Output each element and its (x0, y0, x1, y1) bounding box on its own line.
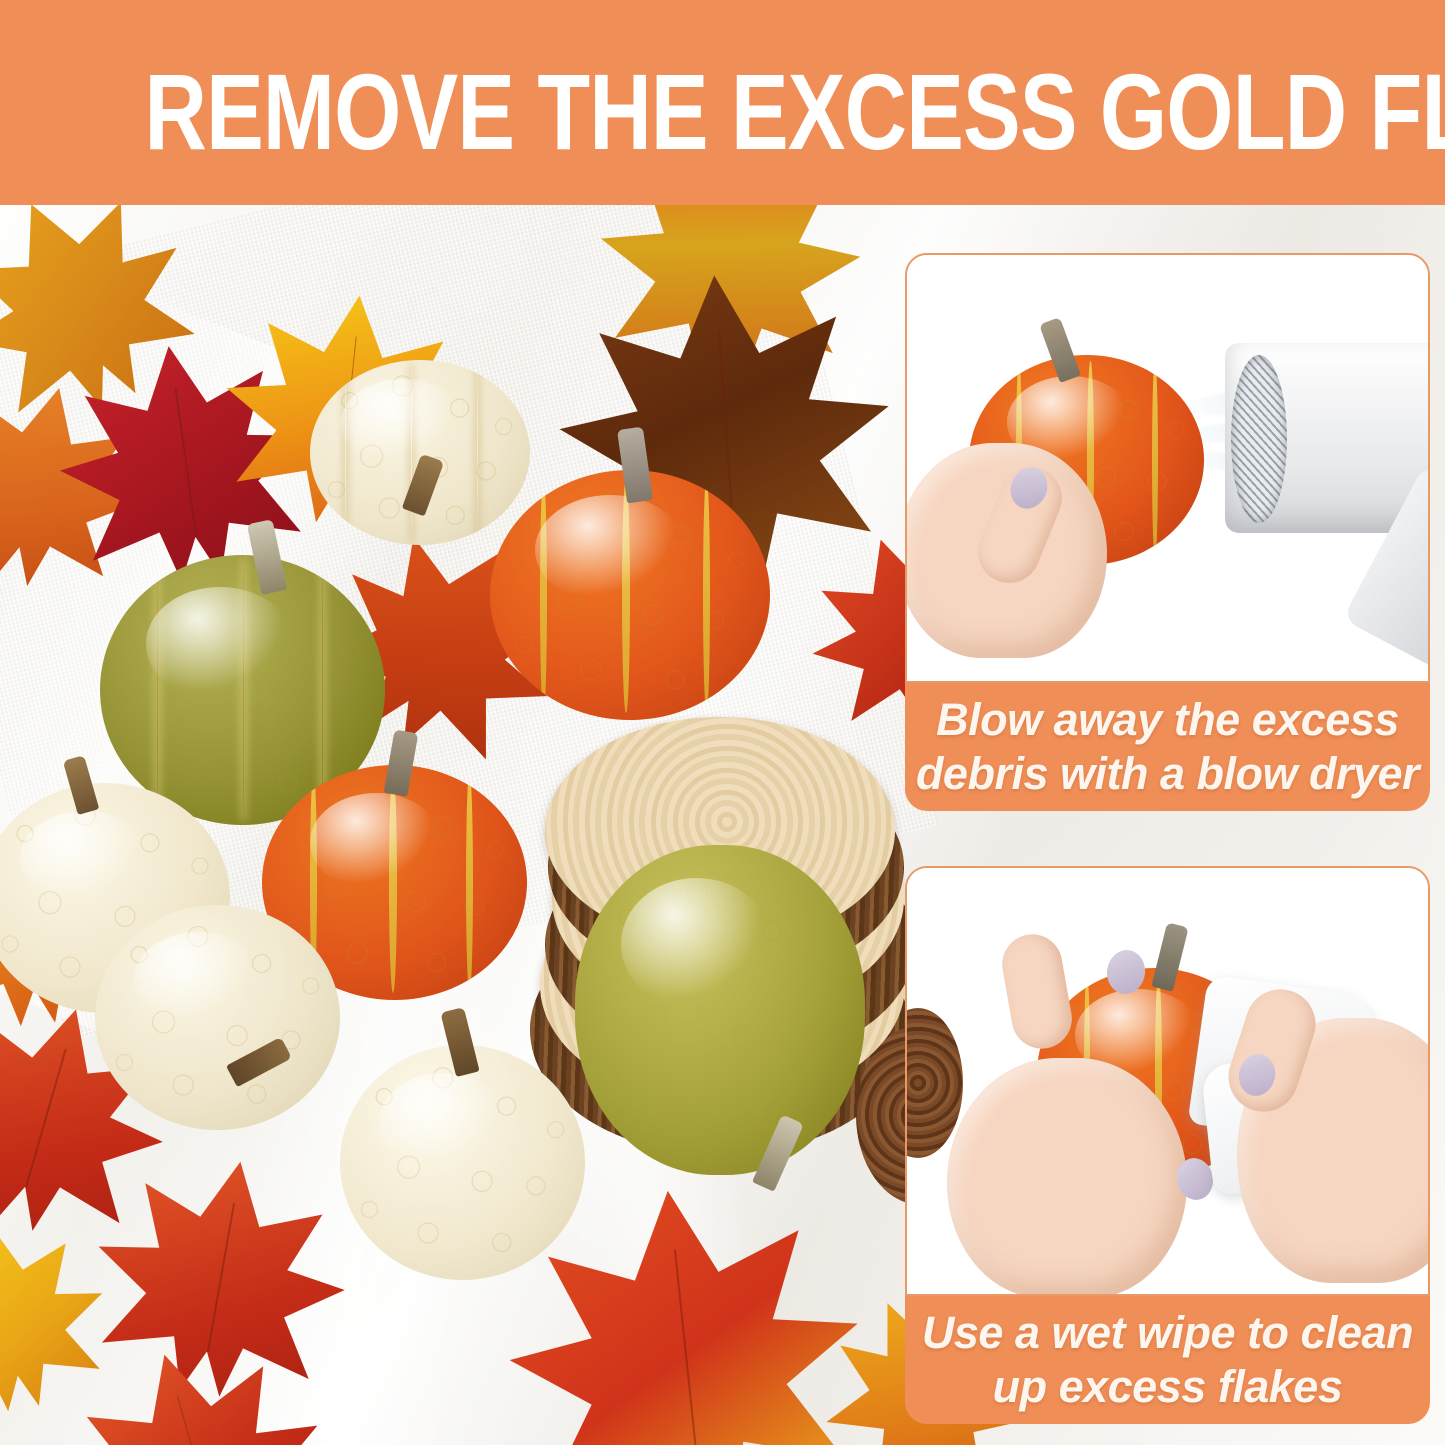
pumpkin-highlight (341, 379, 464, 468)
blow-dryer-grill (1231, 355, 1287, 523)
pumpkin-cream-lower-left (95, 905, 340, 1130)
pumpkin-cream-bottom (340, 1045, 585, 1280)
pumpkin-highlight (146, 587, 294, 700)
pumpkin-highlight (621, 878, 772, 1010)
caption-wet-wipe: Use a wet wipe to clean up excess flakes (905, 1296, 1430, 1424)
caption-blow-dryer: Blow away the excess debris with a blow … (905, 683, 1430, 811)
step-photo-blow-dryer (905, 253, 1430, 683)
blow-dryer-scene (907, 255, 1428, 681)
caption-text: Use a wet wipe to clean up excess flakes (905, 1306, 1430, 1414)
infographic-page: REMOVE THE EXCESS GOLD FLAKES (0, 0, 1445, 1445)
pumpkin-highlight (310, 793, 443, 892)
page-title: REMOVE THE EXCESS GOLD FLAKES (145, 58, 1301, 166)
step-photo-wet-wipe (905, 866, 1430, 1296)
pumpkin-cream-top (310, 360, 530, 545)
pumpkin-rib (703, 478, 710, 713)
pumpkin-highlight (535, 495, 686, 605)
pumpkin-highlight (20, 811, 150, 908)
finger (997, 930, 1076, 1054)
hand-left-holding (947, 1058, 1187, 1294)
pumpkin-highlight (379, 1073, 506, 1172)
header-banner: REMOVE THE EXCESS GOLD FLAKES (0, 0, 1445, 205)
pumpkin-rib (466, 772, 473, 993)
pumpkin-orange-on-wood (490, 470, 770, 720)
caption-text: Blow away the excess debris with a blow … (905, 693, 1430, 801)
pumpkin-highlight (134, 932, 261, 1027)
wet-wipe-scene (907, 868, 1428, 1294)
pumpkin-green-oval (575, 845, 865, 1175)
pumpkin-rib (157, 563, 158, 817)
